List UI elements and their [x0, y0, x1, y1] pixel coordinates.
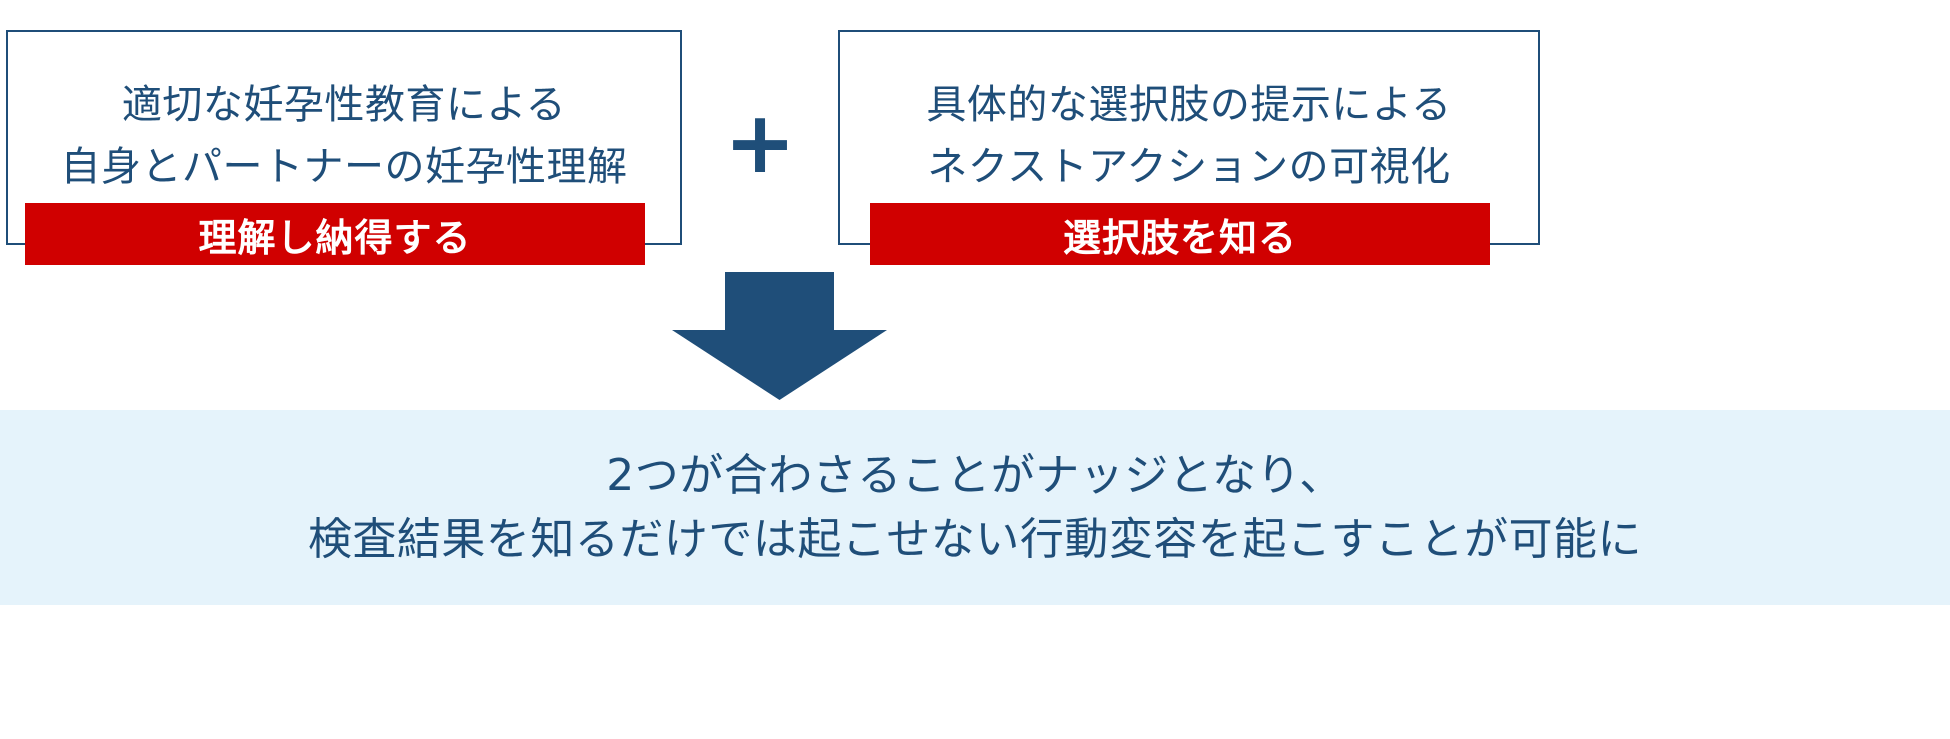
conclusion-line-1: 2つが合わさることがナッジとなり、 — [606, 444, 1343, 508]
plus-icon: + — [700, 88, 820, 198]
right-badge-label: 選択肢を知る — [1063, 207, 1297, 262]
left-badge: 理解し納得する — [25, 203, 645, 265]
left-badge-label: 理解し納得する — [198, 207, 471, 262]
left-box-line-2: 自身とパートナーの妊孕性理解 — [61, 138, 628, 196]
right-box-line-1: 具体的な選択肢の提示による — [926, 76, 1451, 134]
conclusion-line-2: 検査結果を知るだけでは起こせない行動変容を起こすことが可能に — [308, 508, 1642, 572]
down-arrow-icon — [672, 272, 887, 400]
slide-canvas: 適切な妊孕性教育による 自身とパートナーの妊孕性理解 具体的な選択肢の提示による… — [0, 0, 1950, 739]
left-box-line-1: 適切な妊孕性教育による — [122, 76, 566, 134]
conclusion-banner: 2つが合わさることがナッジとなり、 検査結果を知るだけでは起こせない行動変容を起… — [0, 410, 1950, 605]
right-badge: 選択肢を知る — [870, 203, 1490, 265]
right-box-line-2: ネクストアクションの可視化 — [927, 138, 1450, 196]
